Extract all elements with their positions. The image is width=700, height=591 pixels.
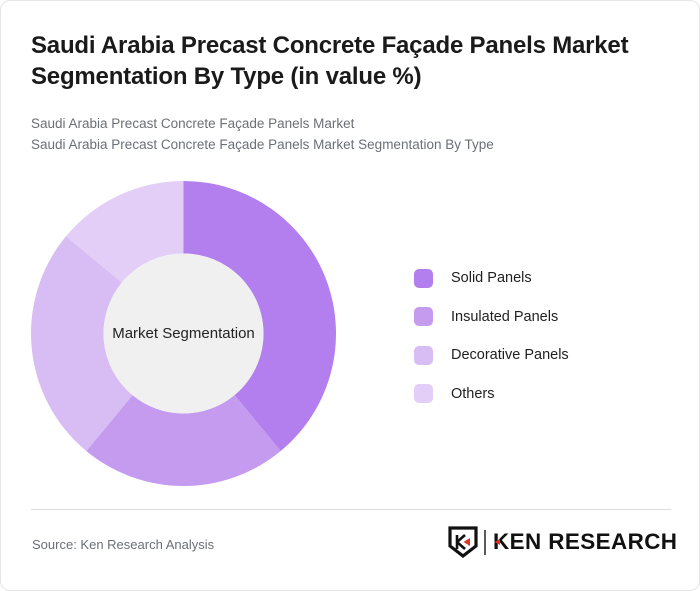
legend-item[interactable]: Others [414, 375, 674, 414]
legend-swatch [414, 384, 433, 403]
chart-card: Saudi Arabia Precast Concrete Façade Pan… [0, 0, 700, 591]
donut-chart: Market Segmentation [31, 181, 336, 486]
legend-item[interactable]: Solid Panels [414, 259, 674, 298]
subtitle-block: Saudi Arabia Precast Concrete Façade Pan… [31, 114, 671, 156]
legend-label: Decorative Panels [451, 347, 569, 363]
legend-label: Solid Panels [451, 270, 532, 286]
legend-item[interactable]: Decorative Panels [414, 336, 674, 375]
page-title: Saudi Arabia Precast Concrete Façade Pan… [31, 31, 671, 92]
source-text: Source: Ken Research Analysis [32, 537, 214, 552]
ken-research-logo: KEN RESEARCH [448, 525, 689, 559]
donut-svg [31, 181, 336, 486]
ken-research-wordmark: KEN RESEARCH [493, 529, 689, 555]
legend-label: Insulated Panels [451, 309, 558, 325]
logo-separator [484, 530, 486, 555]
ken-research-shield-icon [448, 526, 478, 558]
logo-wordmark-text: KEN RESEARCH [493, 529, 677, 554]
legend-swatch [414, 346, 433, 365]
chart-area: Market Segmentation Solid PanelsInsulate… [1, 171, 700, 501]
legend-item[interactable]: Insulated Panels [414, 298, 674, 337]
legend-swatch [414, 269, 433, 288]
subtitle-line-1: Saudi Arabia Precast Concrete Façade Pan… [31, 114, 671, 135]
chart-legend: Solid PanelsInsulated PanelsDecorative P… [414, 259, 674, 413]
subtitle-line-2: Saudi Arabia Precast Concrete Façade Pan… [31, 135, 671, 156]
legend-swatch [414, 307, 433, 326]
footer-divider [31, 509, 671, 510]
donut-center-circle [104, 254, 264, 414]
legend-label: Others [451, 386, 495, 402]
